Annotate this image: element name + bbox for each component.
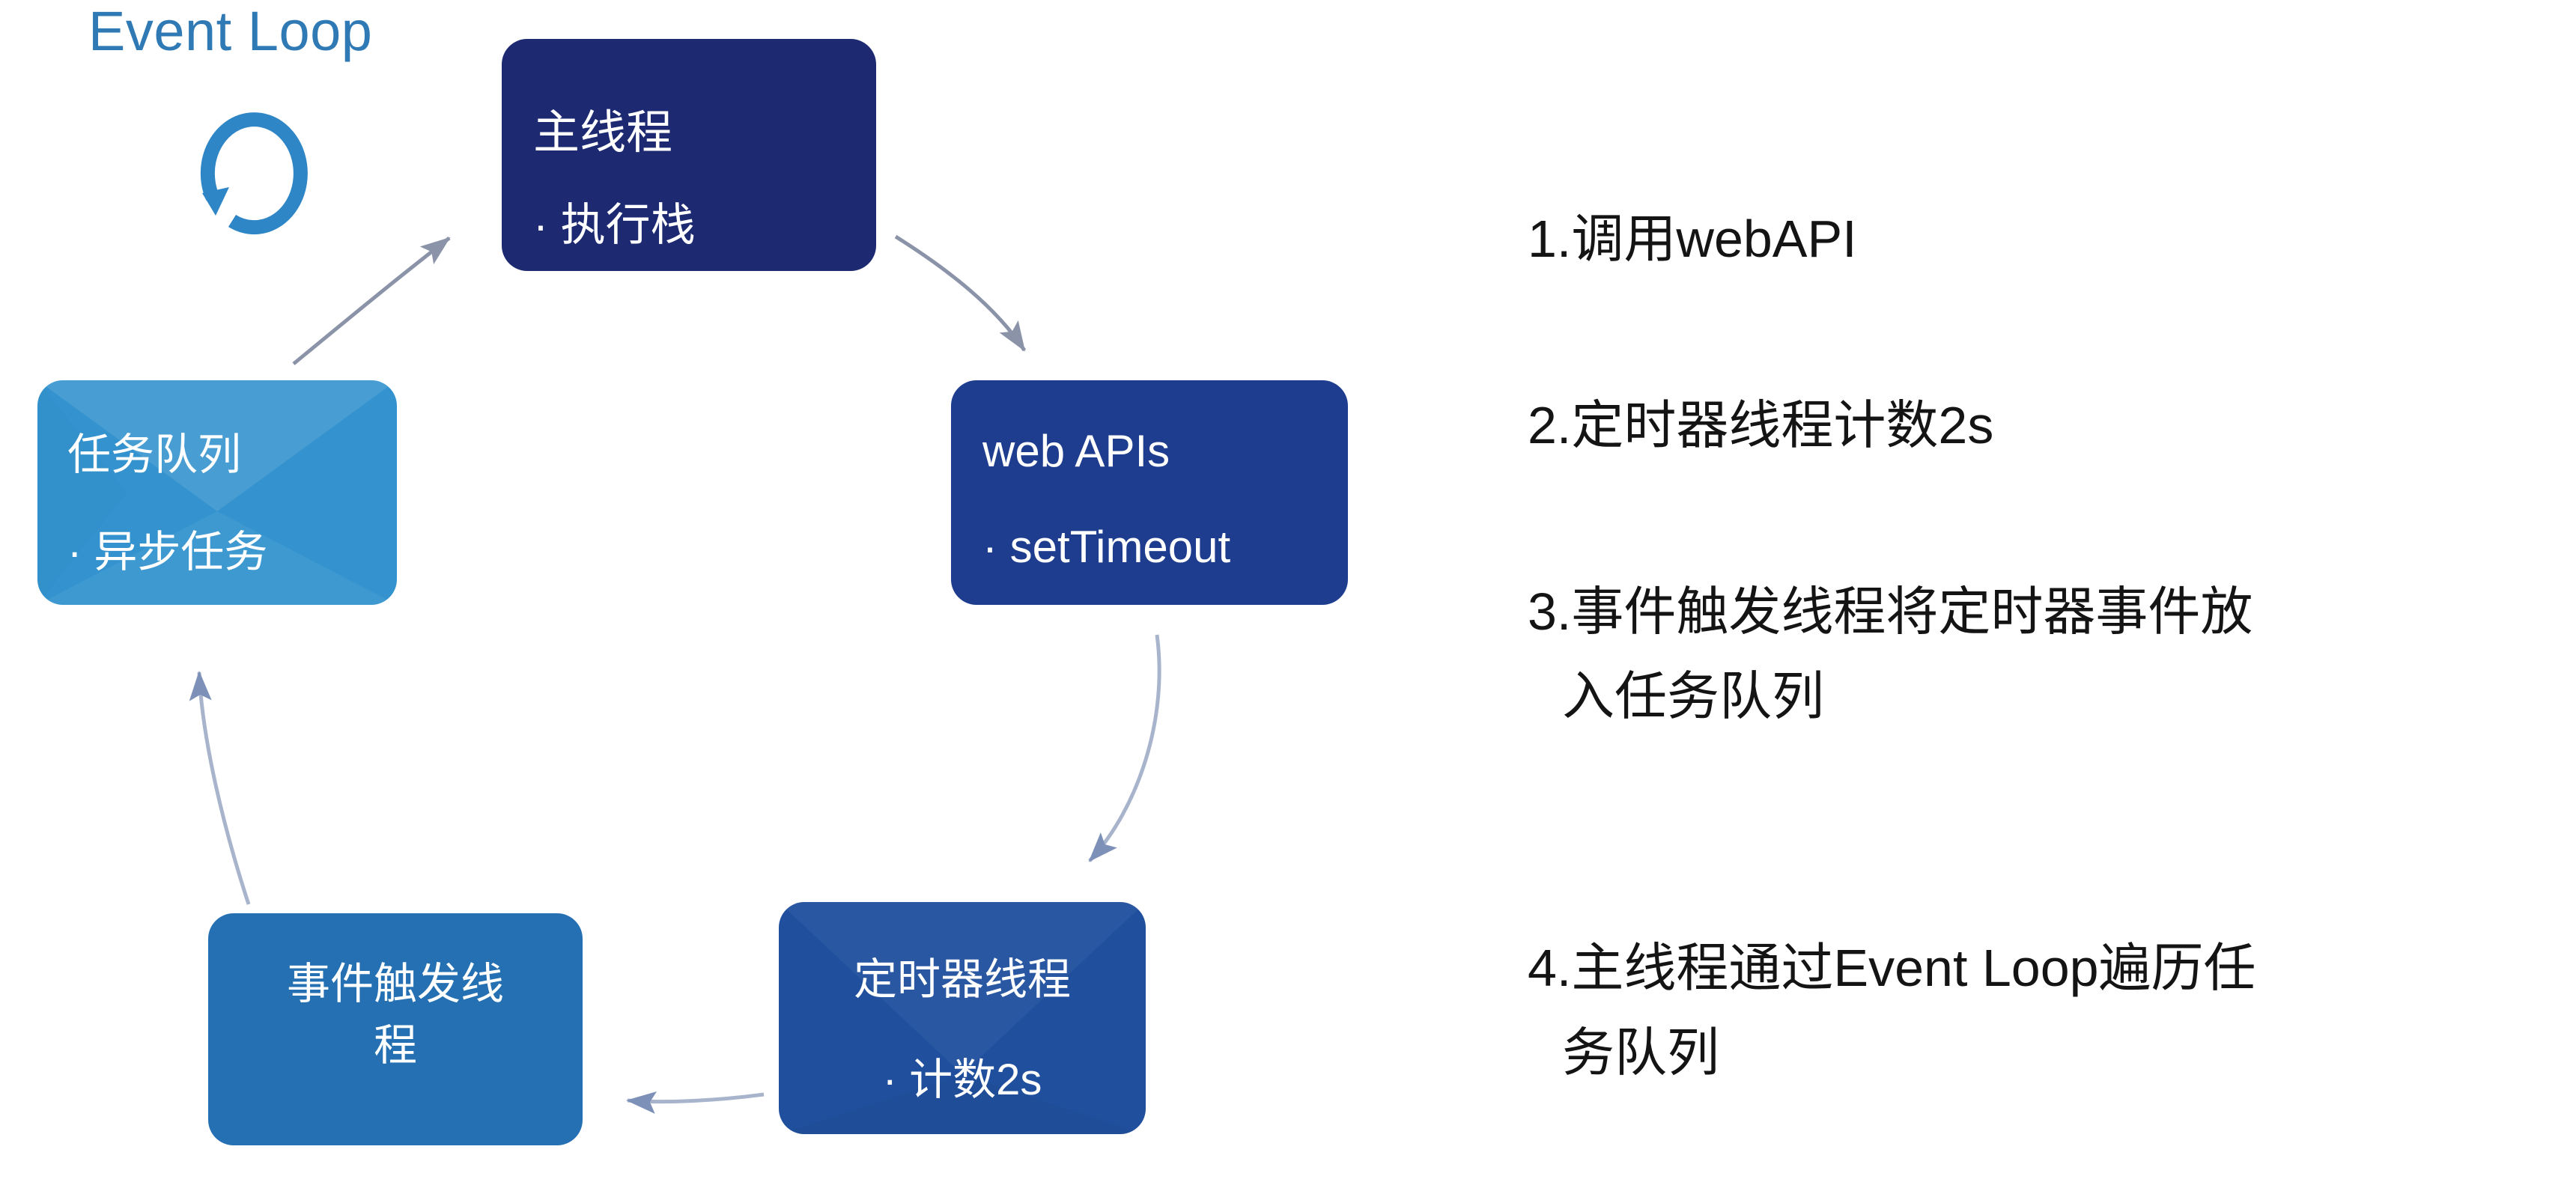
step-item-1: 1.调用webAPI — [1528, 112, 2546, 282]
arrow-main-thread-to-web-apis — [896, 237, 1024, 350]
node-main-thread-title: 主线程 — [502, 94, 876, 162]
node-task-queue-subtitle: · 异步任务 — [37, 517, 397, 579]
node-timer-thread[interactable]: 定时器线程 · 计数2s — [779, 902, 1146, 1134]
steps-list: 1.调用webAPI 2.定时器线程计数2s 3.事件触发线程将定时器事件放 入… — [1528, 112, 2546, 1197]
node-task-queue-title: 任务队列 — [37, 419, 397, 482]
node-task-queue[interactable]: 任务队列 · 异步任务 — [37, 380, 397, 605]
step-4-line2: 务队列 — [1528, 1011, 2546, 1095]
node-event-trigger-thread[interactable]: 事件触发线 程 — [208, 913, 583, 1145]
node-main-thread-subtitle: · 执行栈 — [502, 189, 876, 254]
node-timer-thread-subtitle: · 计数2s — [779, 1044, 1146, 1107]
step-item-2: 2.定时器线程计数2s — [1528, 299, 2546, 469]
arrow-task-queue-to-main-thread — [294, 238, 449, 364]
step-item-3: 3.事件触发线程将定时器事件放 入任务队列 — [1528, 485, 2546, 825]
node-web-apis-subtitle: · setTimeout — [951, 521, 1348, 573]
arrow-event-trigger-thread-to-task-queue — [199, 672, 249, 904]
node-event-trigger-thread-title: 事件触发线 程 — [208, 954, 583, 1077]
arrow-timer-thread-to-event-trigger-thread — [628, 1094, 764, 1102]
step-4-number: 4. — [1528, 939, 1571, 997]
step-3-line1: 事件触发线程将定时器事件放 — [1571, 582, 2253, 641]
step-4-line1: 主线程通过Event Loop遍历任 — [1571, 939, 2255, 997]
step-2-number: 2. — [1528, 396, 1571, 454]
step-2-line1: 定时器线程计数2s — [1571, 396, 1993, 454]
diagram-canvas: Event Loop 主线程 · 执行栈 web APIs · setTimeo… — [0, 0, 2576, 1177]
step-1-line1: 调用webAPI — [1571, 210, 1856, 268]
arrow-web-apis-to-timer-thread — [1090, 635, 1159, 861]
node-timer-thread-title: 定时器线程 — [779, 944, 1146, 1007]
node-main-thread[interactable]: 主线程 · 执行栈 — [502, 39, 876, 271]
node-web-apis-title: web APIs — [951, 425, 1348, 477]
step-3-line2: 入任务队列 — [1528, 654, 2546, 739]
node-web-apis[interactable]: web APIs · setTimeout — [951, 380, 1348, 605]
step-1-number: 1. — [1528, 210, 1571, 268]
circular-refresh-arrow-icon — [180, 99, 329, 249]
step-item-4: 4.主线程通过Event Loop遍历任 务队列 — [1528, 841, 2546, 1181]
step-3-number: 3. — [1528, 582, 1571, 641]
event-loop-heading: Event Loop — [88, 4, 372, 59]
